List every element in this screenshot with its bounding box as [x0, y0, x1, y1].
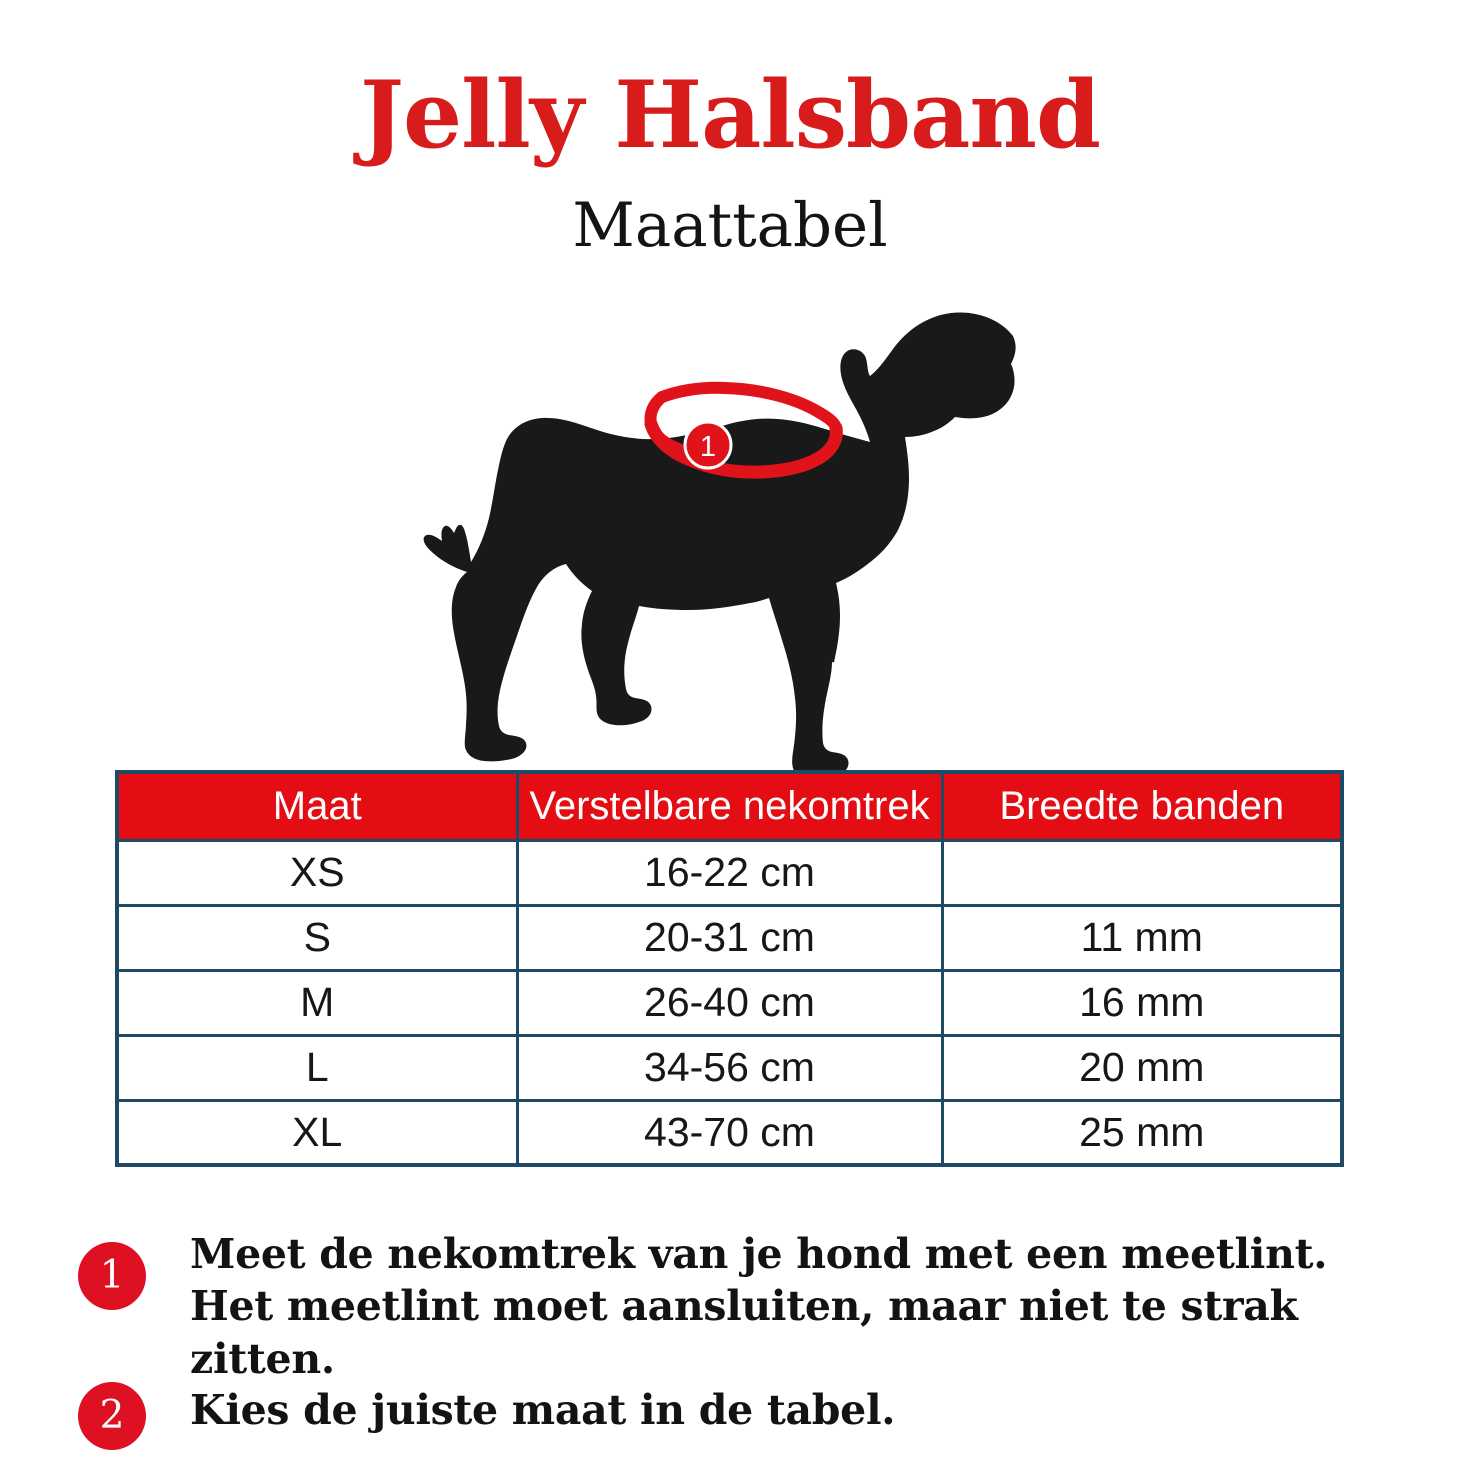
cell-nekomtrek: 16-22 cm	[517, 840, 942, 905]
cell-breedte: 25 mm	[942, 1100, 1342, 1165]
column-header-maat: Maat	[117, 772, 517, 840]
page-subtitle: Maattabel	[0, 192, 1460, 259]
table-header: Maat Verstelbare nekomtrek Breedte bande…	[117, 772, 1342, 840]
column-header-nekomtrek: Verstelbare nekomtrek	[517, 772, 942, 840]
table-body: XS 16-22 cm S 20-31 cm 11 mm M 26-40 cm …	[117, 840, 1342, 1165]
cell-nekomtrek: 20-31 cm	[517, 905, 942, 970]
table-row: M 26-40 cm 16 mm	[117, 970, 1342, 1035]
dog-silhouette-figure: 1	[415, 300, 1055, 770]
cell-breedte: 16 mm	[942, 970, 1342, 1035]
instruction-badge-1: 1	[78, 1242, 146, 1310]
table-row: XL 43-70 cm 25 mm	[117, 1100, 1342, 1165]
instruction-text-1: Meet de nekomtrek van je hond met een me…	[190, 1228, 1398, 1385]
size-guide-page: Jelly Halsband Maattabel 1 Maat	[0, 0, 1460, 1460]
page-title: Jelly Halsband	[0, 66, 1460, 164]
column-header-breedte: Breedte banden	[942, 772, 1342, 840]
table-header-row: Maat Verstelbare nekomtrek Breedte bande…	[117, 772, 1342, 840]
cell-breedte: 20 mm	[942, 1035, 1342, 1100]
cell-nekomtrek: 43-70 cm	[517, 1100, 942, 1165]
table-row: L 34-56 cm 20 mm	[117, 1035, 1342, 1100]
collar-marker-label: 1	[700, 431, 716, 463]
cell-nekomtrek: 26-40 cm	[517, 970, 942, 1035]
cell-nekomtrek: 34-56 cm	[517, 1035, 942, 1100]
instruction-badge-2: 2	[78, 1382, 146, 1450]
cell-maat: XL	[117, 1100, 517, 1165]
size-table: Maat Verstelbare nekomtrek Breedte bande…	[115, 770, 1344, 1167]
instruction-text-2: Kies de juiste maat in de tabel.	[190, 1378, 1398, 1436]
cell-maat: S	[117, 905, 517, 970]
cell-maat: XS	[117, 840, 517, 905]
cell-maat: M	[117, 970, 517, 1035]
table-row: S 20-31 cm 11 mm	[117, 905, 1342, 970]
cell-breedte: 11 mm	[942, 905, 1342, 970]
dog-illustration-svg: 1	[415, 300, 1055, 770]
dog-body-shape	[424, 312, 1016, 770]
cell-maat: L	[117, 1035, 517, 1100]
table-row: XS 16-22 cm	[117, 840, 1342, 905]
instruction-item-1: 1 Meet de nekomtrek van je hond met een …	[78, 1228, 1398, 1385]
instruction-item-2: 2 Kies de juiste maat in de tabel.	[78, 1378, 1398, 1450]
cell-breedte	[942, 840, 1342, 905]
